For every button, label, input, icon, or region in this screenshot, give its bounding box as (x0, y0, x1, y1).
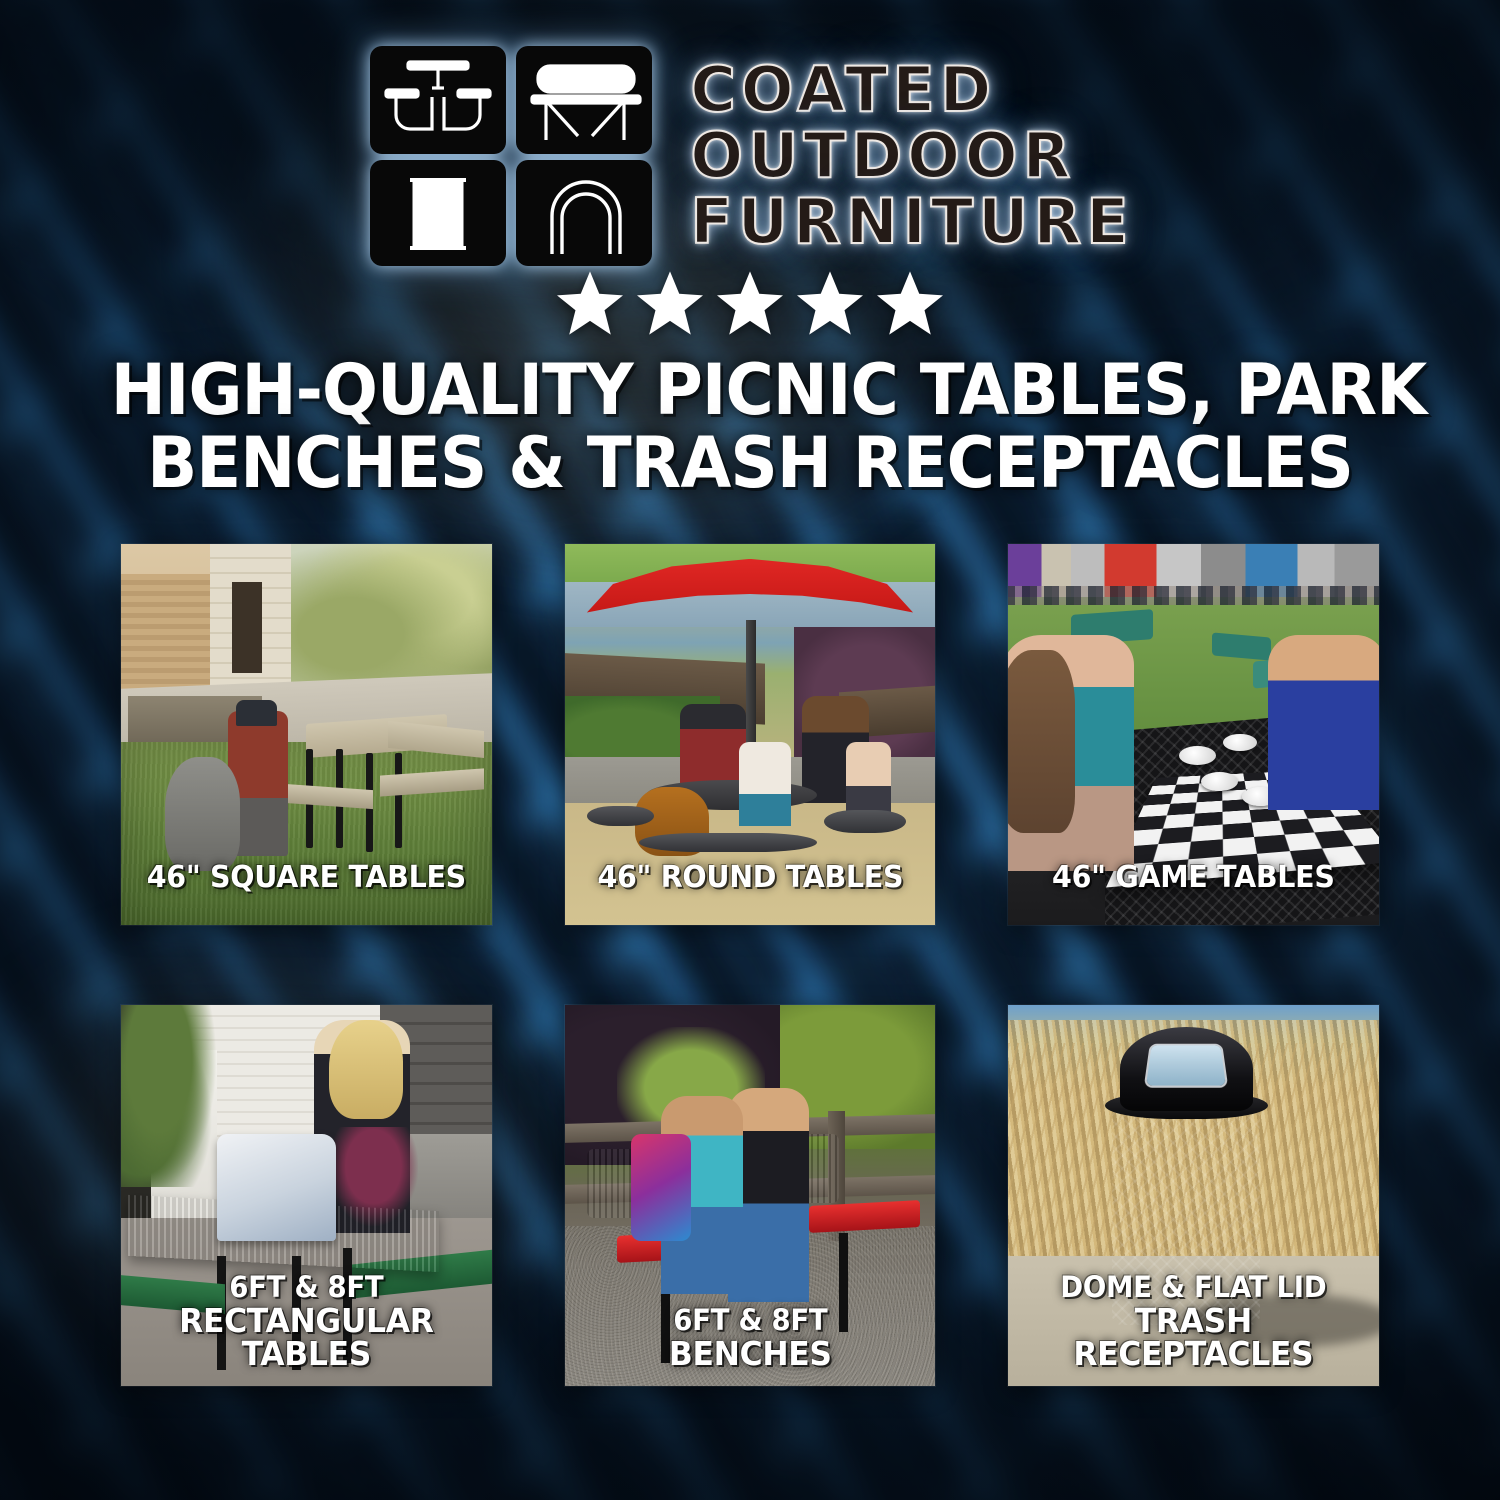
gallery-caption: DOME & FLAT LID TRASH RECEPTACLES (1018, 1273, 1370, 1370)
caption-line-1: 6FT & 8FT (574, 1306, 926, 1335)
gallery-caption: 6FT & 8FT RECTANGULAR TABLES (130, 1273, 482, 1370)
wordmark: COATED OUTDOOR FURNITURE (690, 58, 1133, 254)
page-title: HIGH-QUALITY PICNIC TABLES, PARK BENCHES… (45, 354, 1455, 500)
caption-line-1: 6FT & 8FT (130, 1273, 482, 1302)
gallery-caption: 6FT & 8FT BENCHES (574, 1306, 926, 1370)
star-icon (637, 270, 703, 336)
caption-line-1: DOME & FLAT LID (1018, 1273, 1370, 1302)
caption-line-1: 46" ROUND TABLES (597, 860, 903, 895)
headline-line-1: HIGH-QUALITY PICNIC TABLES, PARK (111, 354, 1389, 427)
gallery-caption: 46" ROUND TABLES (574, 863, 926, 893)
gallery-item-game-tables[interactable]: 46" GAME TABLES (1008, 544, 1379, 925)
caption-line-1: 46" SQUARE TABLES (147, 860, 466, 895)
star-icon (877, 270, 943, 336)
wordmark-line-3: FURNITURE (690, 190, 1133, 254)
brand-lockup: COATED OUTDOOR FURNITURE (0, 0, 1500, 250)
star-icon (717, 270, 783, 336)
wordmark-line-1: COATED (690, 58, 1133, 122)
gallery-item-round-tables[interactable]: 46" ROUND TABLES (565, 544, 936, 925)
trash-receptacle-icon (410, 180, 466, 248)
gallery-caption: 46" GAME TABLES (1018, 863, 1370, 893)
caption-line-2: BENCHES (574, 1337, 926, 1370)
headline-line-2: BENCHES & TRASH RECEPTACLES (111, 427, 1389, 500)
caption-line-2: TRASH RECEPTACLES (1018, 1304, 1370, 1370)
four-product-quadrant-icon (366, 42, 656, 270)
gallery-item-trash-receptacles[interactable]: DOME & FLAT LID TRASH RECEPTACLES (1008, 1005, 1379, 1386)
star-rating (0, 266, 1500, 340)
gallery-item-rectangular-tables[interactable]: 6FT & 8FT RECTANGULAR TABLES (121, 1005, 492, 1386)
product-gallery-grid: 46" SQUARE TABLES (121, 544, 1379, 1386)
caption-line-2: RECTANGULAR TABLES (130, 1304, 482, 1370)
gallery-caption: 46" SQUARE TABLES (130, 863, 482, 893)
star-icon (557, 270, 623, 336)
wordmark-line-2: OUTDOOR (690, 124, 1133, 188)
gallery-item-square-tables[interactable]: 46" SQUARE TABLES (121, 544, 492, 925)
promo-banner: COATED OUTDOOR FURNITURE HIGH-QUALITY PI… (0, 0, 1500, 1500)
caption-line-1: 46" GAME TABLES (1052, 860, 1335, 895)
star-icon (797, 270, 863, 336)
gallery-item-benches[interactable]: 6FT & 8FT BENCHES (565, 1005, 936, 1386)
